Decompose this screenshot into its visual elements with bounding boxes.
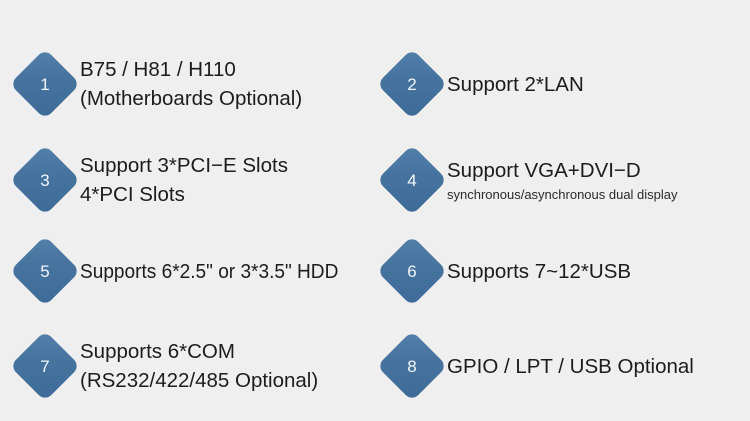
feature-subtitle: synchronous/asynchronous dual display bbox=[447, 185, 678, 204]
feature-line: GPIO / LPT / USB Optional bbox=[447, 352, 694, 381]
badge-number: 7 bbox=[20, 341, 70, 391]
feature-line: (Motherboards Optional) bbox=[80, 84, 302, 113]
feature-text-4: Support VGA+DVI−D synchronous/asynchrono… bbox=[447, 156, 678, 204]
feature-line: Supports 6*COM bbox=[80, 337, 318, 366]
feature-line: 4*PCI Slots bbox=[80, 180, 288, 209]
feature-line: Supports 7~12*USB bbox=[447, 257, 631, 286]
feature-text-3: Support 3*PCI−E Slots 4*PCI Slots bbox=[80, 151, 288, 209]
badge-7: 7 bbox=[20, 341, 70, 391]
badge-number: 1 bbox=[20, 59, 70, 109]
feature-text-7: Supports 6*COM (RS232/422/485 Optional) bbox=[80, 337, 318, 395]
feature-line: Support VGA+DVI−D bbox=[447, 156, 678, 185]
feature-line: Support 3*PCI−E Slots bbox=[80, 151, 288, 180]
badge-number: 4 bbox=[387, 155, 437, 205]
badge-6: 6 bbox=[387, 246, 437, 296]
badge-number: 3 bbox=[20, 155, 70, 205]
feature-item-8: 8 GPIO / LPT / USB Optional bbox=[387, 318, 694, 414]
feature-item-5: 5 Supports 6*2.5" or 3*3.5" HDD bbox=[20, 223, 358, 319]
feature-text-1: B75 / H81 / H110 (Motherboards Optional) bbox=[80, 55, 302, 113]
feature-line: Supports 6*2.5" or 3*3.5" HDD bbox=[80, 257, 338, 286]
feature-item-2: 2 Support 2*LAN bbox=[387, 36, 584, 132]
badge-5: 5 bbox=[20, 246, 70, 296]
feature-item-7: 7 Supports 6*COM (RS232/422/485 Optional… bbox=[20, 318, 318, 414]
feature-item-4: 4 Support VGA+DVI−D synchronous/asynchro… bbox=[387, 132, 678, 228]
feature-line: Support 2*LAN bbox=[447, 70, 584, 99]
feature-text-5: Supports 6*2.5" or 3*3.5" HDD bbox=[80, 257, 358, 286]
badge-3: 3 bbox=[20, 155, 70, 205]
badge-2: 2 bbox=[387, 59, 437, 109]
badge-8: 8 bbox=[387, 341, 437, 391]
badge-number: 2 bbox=[387, 59, 437, 109]
feature-text-2: Support 2*LAN bbox=[447, 70, 584, 99]
feature-line: B75 / H81 / H110 bbox=[80, 55, 302, 84]
feature-item-6: 6 Supports 7~12*USB bbox=[387, 223, 631, 319]
feature-text-8: GPIO / LPT / USB Optional bbox=[447, 352, 694, 381]
feature-item-3: 3 Support 3*PCI−E Slots 4*PCI Slots bbox=[20, 132, 288, 228]
badge-number: 5 bbox=[20, 246, 70, 296]
badge-1: 1 bbox=[20, 59, 70, 109]
feature-line: (RS232/422/485 Optional) bbox=[80, 366, 318, 395]
badge-number: 8 bbox=[387, 341, 437, 391]
badge-4: 4 bbox=[387, 155, 437, 205]
badge-number: 6 bbox=[387, 246, 437, 296]
feature-list-board: 1 B75 / H81 / H110 (Motherboards Optiona… bbox=[0, 0, 750, 421]
feature-item-1: 1 B75 / H81 / H110 (Motherboards Optiona… bbox=[20, 36, 302, 132]
feature-text-6: Supports 7~12*USB bbox=[447, 257, 631, 286]
